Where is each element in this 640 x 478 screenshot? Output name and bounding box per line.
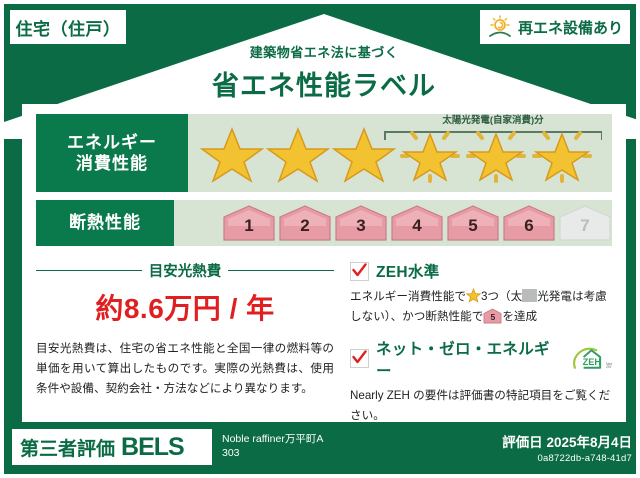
insulation-performance-label: 断熱性能 (36, 200, 174, 246)
insulation-performance-row: 断熱性能 1 2 3 (36, 200, 612, 246)
svg-text:ZEH: ZEH (583, 357, 602, 367)
insulation-level-1: 1 (222, 204, 276, 242)
zeh-standard-text: エネルギー消費性能で3つ（太光発電は考慮しない）、かつ断熱性能で5を達成 (350, 287, 612, 327)
label-body-card: エネルギー 消費性能 太陽光発電(自家消費)分 (22, 104, 626, 422)
renewable-equipment-label: 再エネ設備あり (518, 17, 623, 38)
building-name: Noble raffiner万平町A 303 (222, 433, 323, 460)
page-title: 省エネ性能ラベル (4, 64, 640, 103)
net-zero-heading: ネット・ゼロ・エネルギー ZEH Nearly ZEH (350, 337, 612, 381)
zeh-standard-title: ZEH水準 (376, 260, 440, 282)
star-solid-1 (200, 123, 264, 183)
insulation-level-4: 4 (390, 204, 444, 242)
building-name-line2: 303 (222, 447, 323, 461)
header-subtitle: 建築物省エネ法に基づく (4, 42, 640, 61)
insulation-level-2: 2 (278, 204, 332, 242)
bels-badge: 第三者評価 BELS (12, 429, 212, 465)
cost-heading-row: 目安光熱費 (36, 260, 334, 281)
zeh-text-part3: を達成 (502, 310, 537, 323)
insulation-level-1-value: 1 (222, 204, 276, 242)
insulation-level-7: 7 (558, 204, 612, 242)
bels-en-label: BELS (121, 433, 184, 462)
cost-rule-left (36, 270, 142, 272)
insulation-level-3: 3 (334, 204, 388, 242)
star-sparkle-6 (530, 123, 594, 183)
inline-house-value: 5 (483, 308, 502, 324)
cost-column: 目安光熱費 約8.6万円 / 年 目安光熱費は、住宅の省エネ性能と全国一律の燃料… (36, 260, 344, 436)
net-zero-checkbox[interactable] (350, 349, 369, 368)
bels-jp-label: 第三者評価 (20, 434, 115, 461)
cost-note: 目安光熱費は、住宅の省エネ性能と全国一律の燃料等の単価を用いて算出したものです。… (36, 339, 334, 399)
star-solid-3 (332, 123, 396, 183)
lower-sections: 目安光熱費 約8.6万円 / 年 目安光熱費は、住宅の省エネ性能と全国一律の燃料… (36, 260, 612, 436)
insulation-level-5: 5 (446, 204, 500, 242)
energy-label-line1: エネルギー (67, 132, 157, 153)
cost-heading: 目安光熱費 (149, 260, 222, 281)
energy-performance-label: 住宅（住戸） 再エネ設備あり 建築物省エネ法に基づく 省エネ性能ラベル エ (0, 0, 640, 478)
inline-star-icon (466, 288, 481, 303)
insulation-level-5-value: 5 (446, 204, 500, 242)
building-name-line1: Noble raffiner万平町A (222, 433, 323, 447)
insulation-level-6-value: 6 (502, 204, 556, 242)
net-zero-title: ネット・ゼロ・エネルギー (376, 337, 560, 381)
insulation-level-4-value: 4 (390, 204, 444, 242)
check-icon (352, 350, 367, 365)
star-sparkle-5 (464, 123, 528, 183)
insulation-level-2-value: 2 (278, 204, 332, 242)
check-icon (352, 263, 367, 278)
zeh-column: ZEH水準 エネルギー消費性能で3つ（太光発電は考慮しない）、かつ断熱性能で5を… (344, 260, 612, 436)
header-title-block: 建築物省エネ法に基づく 省エネ性能ラベル (4, 42, 640, 103)
energy-label-line2: 消費性能 (67, 153, 157, 174)
insulation-levels-panel: 1 2 3 4 5 (174, 200, 612, 246)
insulation-level-scale: 1 2 3 4 5 (174, 204, 612, 242)
energy-stars-panel: 太陽光発電(自家消費)分 (188, 114, 612, 192)
insulation-level-3-value: 3 (334, 204, 388, 242)
cost-value: 約8.6万円 / 年 (36, 287, 334, 327)
insulation-level-6: 6 (502, 204, 556, 242)
net-zero-block: ネット・ゼロ・エネルギー ZEH Nearly ZEH Nearly ZEH の… (350, 337, 612, 426)
zeh-house-logo-icon: ZEH Nearly ZEH (571, 346, 612, 372)
zeh-standard-heading: ZEH水準 (350, 260, 612, 282)
star-solid-2 (266, 123, 330, 183)
redacted-character (522, 289, 537, 302)
zeh-standard-checkbox[interactable] (350, 262, 369, 281)
renewable-equipment-badge: 再エネ設備あり (480, 10, 630, 44)
footer: 第三者評価 BELS Noble raffiner万平町A 303 評価日 20… (4, 420, 640, 474)
zeh-text-star: 3つ（太 (481, 290, 522, 303)
zeh-standard-block: ZEH水準 エネルギー消費性能で3つ（太光発電は考慮しない）、かつ断熱性能で5を… (350, 260, 612, 327)
inline-house-badge: 5 (483, 308, 502, 324)
evaluation-id: 0a8722db-a748-41d7 (502, 453, 632, 464)
evaluation-info: 評価日 2025年8月4日 0a8722db-a748-41d7 (502, 431, 632, 464)
zeh-text-part1: エネルギー消費性能で (350, 290, 466, 303)
star-sparkle-4 (398, 123, 462, 183)
insulation-level-7-value: 7 (558, 204, 612, 242)
energy-star-rating (188, 123, 594, 183)
evaluation-date: 評価日 2025年8月4日 (502, 431, 632, 451)
svg-text:ZEH: ZEH (606, 365, 612, 369)
energy-performance-row: エネルギー 消費性能 太陽光発電(自家消費)分 (36, 114, 612, 192)
sun-renewable-icon (487, 14, 513, 40)
cost-rule-right (228, 270, 334, 272)
housing-type-label: 住宅（住戸） (16, 15, 121, 40)
energy-performance-label: エネルギー 消費性能 (36, 114, 188, 192)
housing-type-badge: 住宅（住戸） (10, 10, 126, 44)
